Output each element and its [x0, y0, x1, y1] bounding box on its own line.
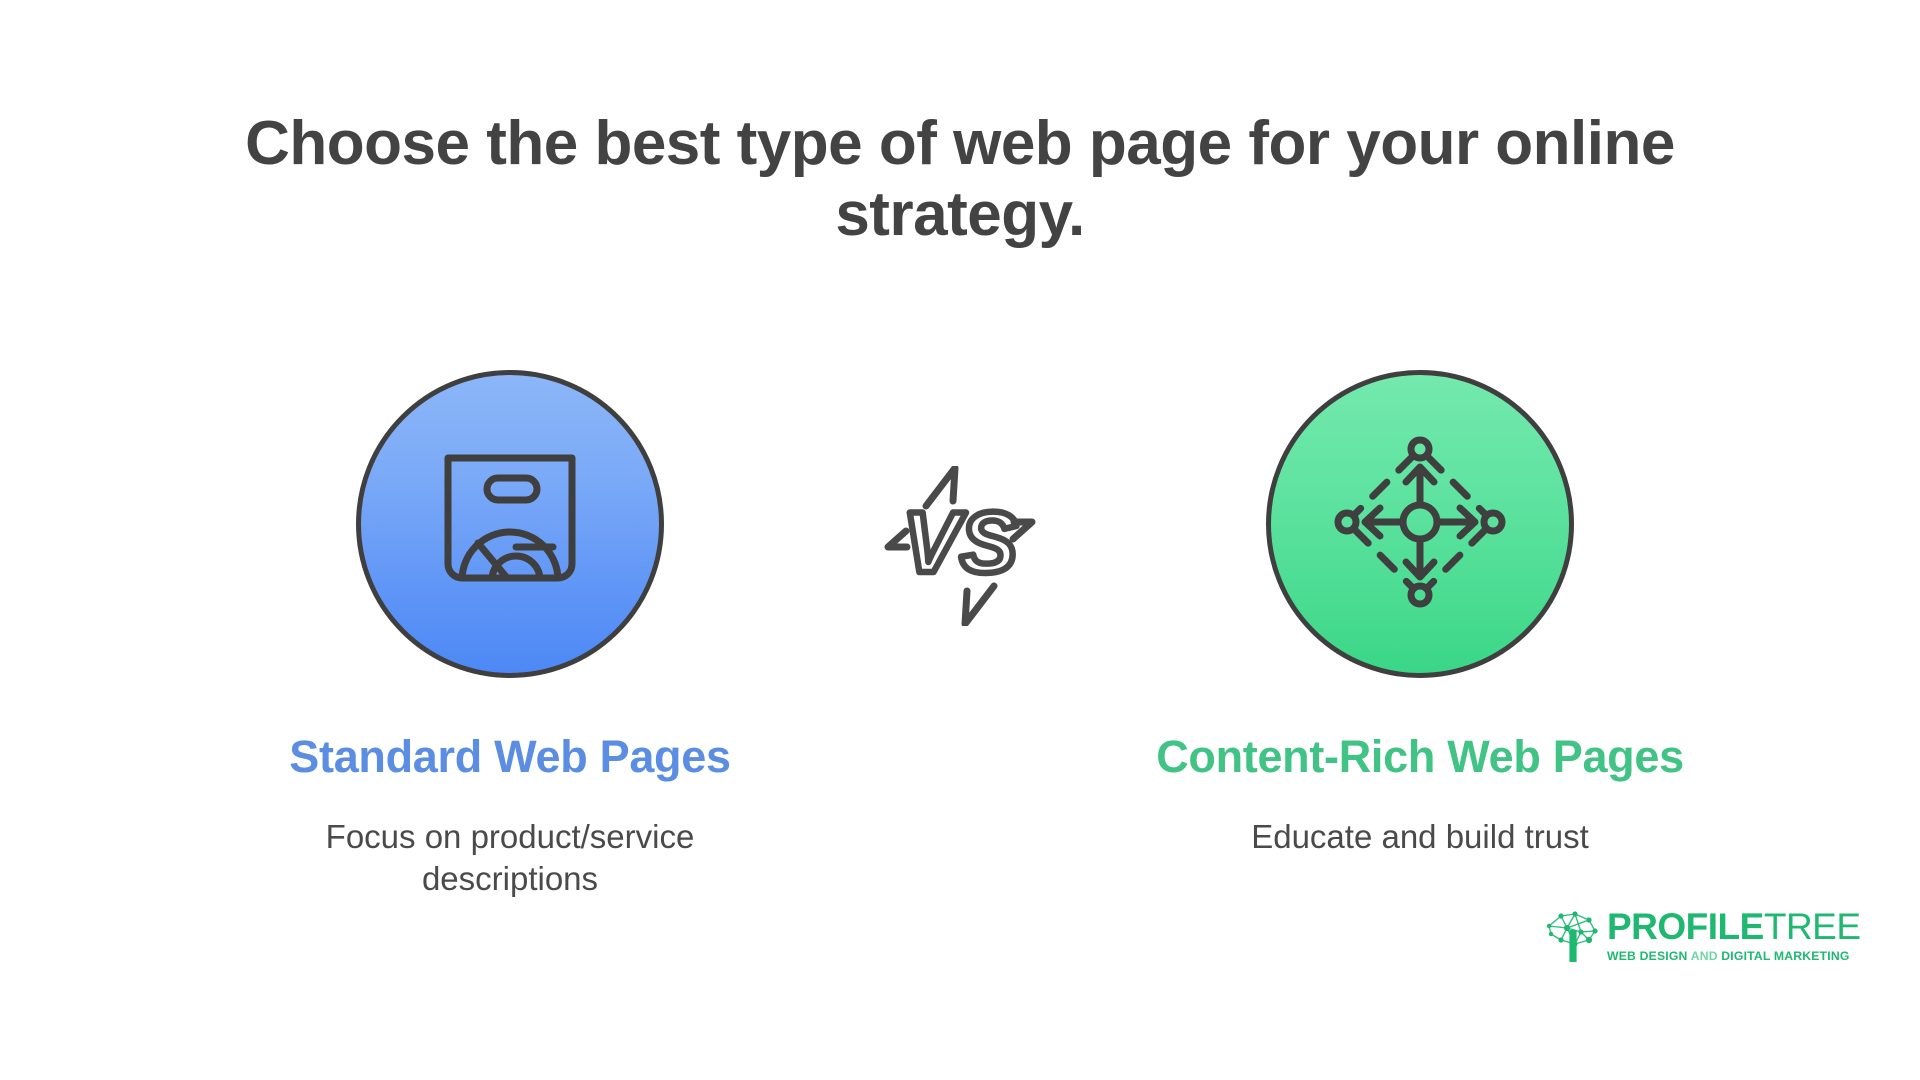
standard-web-pages-badge	[356, 370, 664, 678]
vs-spark-icon: VS	[880, 466, 1040, 626]
page-title: Choose the best type of web page for you…	[170, 108, 1750, 251]
logo-name-bold: PROFILE	[1607, 906, 1764, 947]
comparison-columns: Standard Web Pages Focus on product/serv…	[0, 370, 1920, 930]
standard-web-pages-heading: Standard Web Pages	[230, 732, 790, 782]
tagline-part-3: DIGITAL MARKETING	[1721, 949, 1849, 963]
comparison-item-standard: Standard Web Pages Focus on product/serv…	[230, 370, 790, 900]
profiletree-network-tree-icon	[1545, 910, 1601, 966]
tagline-part-2: AND	[1691, 949, 1718, 963]
comparison-item-content-rich: Content-Rich Web Pages Educate and build…	[1140, 370, 1700, 858]
web-page-image-placeholder-icon	[420, 432, 600, 617]
content-rich-web-pages-description: Educate and build trust	[1140, 816, 1700, 858]
svg-text:VS: VS	[903, 495, 1018, 591]
profiletree-name: PROFILETREE	[1607, 906, 1861, 947]
standard-web-pages-description: Focus on product/service descriptions	[230, 816, 790, 900]
expand-network-arrows-icon	[1330, 432, 1510, 617]
content-rich-web-pages-heading: Content-Rich Web Pages	[1140, 732, 1700, 782]
profiletree-wordmark: PROFILETREE WEB DESIGN AND DIGITAL MARKE…	[1607, 908, 1861, 962]
profiletree-logo: PROFILETREE WEB DESIGN AND DIGITAL MARKE…	[1545, 908, 1825, 970]
profiletree-tagline: WEB DESIGN AND DIGITAL MARKETING	[1607, 950, 1861, 962]
tagline-part-1: WEB DESIGN	[1607, 949, 1688, 963]
slide-canvas: Choose the best type of web page for you…	[0, 0, 1920, 1080]
logo-name-light: TREE	[1764, 906, 1861, 947]
content-rich-web-pages-badge	[1266, 370, 1574, 678]
